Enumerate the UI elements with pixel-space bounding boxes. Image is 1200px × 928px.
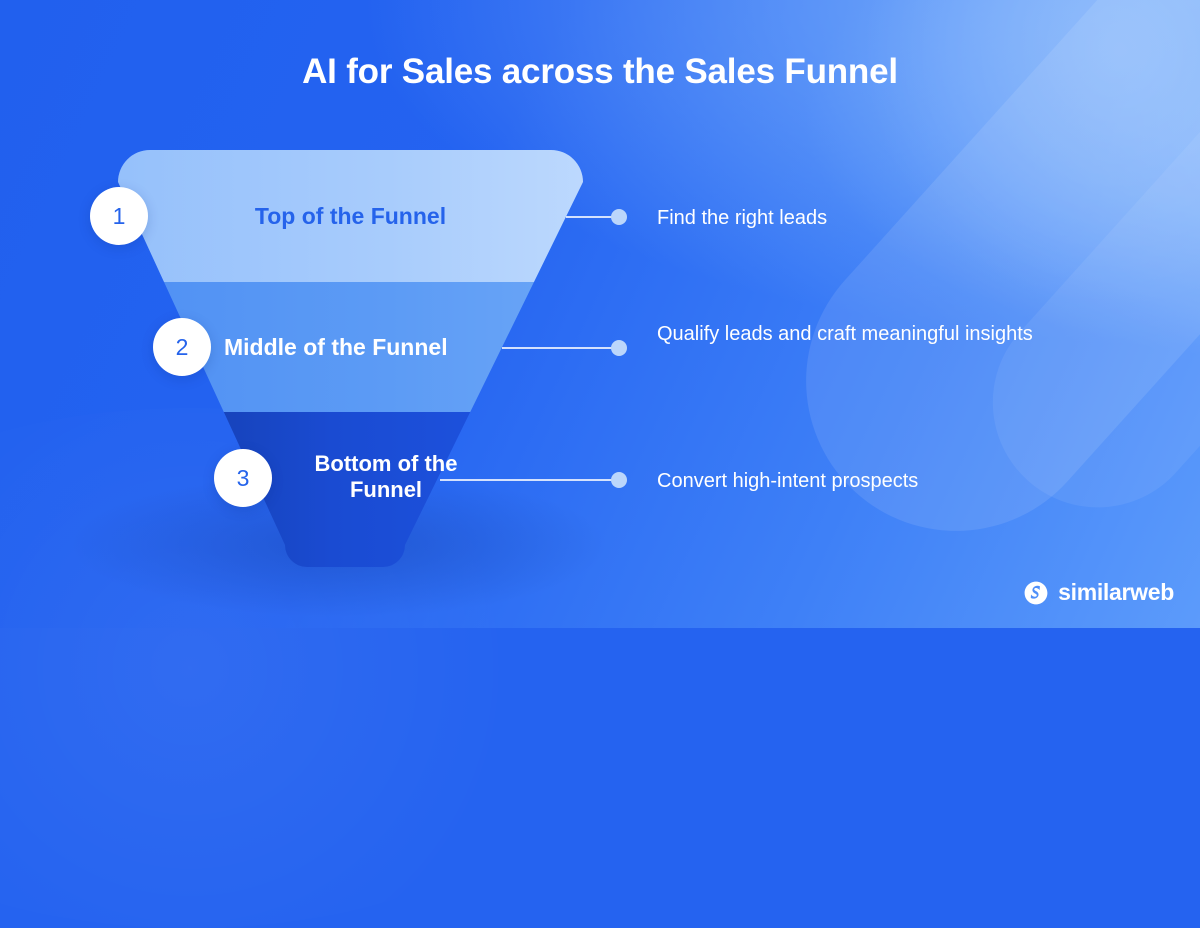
connector-line-2: [502, 341, 627, 355]
funnel-shape-svg: [0, 0, 1200, 628]
stage-number-badge-1[interactable]: 1: [90, 187, 148, 245]
logo-wordmark: similarweb: [1058, 579, 1174, 606]
sales-funnel-diagram: Top of the Funnel Middle of the Funnel B…: [0, 0, 1200, 628]
connector-dot-icon: [611, 209, 627, 225]
connector-stroke: [502, 347, 612, 349]
funnel-tier-label-top: Top of the Funnel: [118, 203, 583, 230]
connector-dot-icon: [611, 340, 627, 356]
stage-description-1: Find the right leads: [657, 204, 1077, 233]
connector-line-3: [440, 473, 627, 487]
connector-stroke: [566, 216, 612, 218]
connector-stroke: [440, 479, 612, 481]
funnel-tier-label-middle: Middle of the Funnel: [224, 334, 524, 361]
similarweb-logo[interactable]: similarweb: [1023, 579, 1174, 606]
stage-description-3: Convert high-intent prospects: [657, 467, 1077, 496]
stage-description-2: Qualify leads and craft meaningful insig…: [657, 320, 1057, 349]
similarweb-swirl-icon: [1023, 580, 1049, 606]
stage-number-badge-3[interactable]: 3: [214, 449, 272, 507]
stage-number-badge-2[interactable]: 2: [153, 318, 211, 376]
connector-line-1: [566, 210, 627, 224]
connector-dot-icon: [611, 472, 627, 488]
